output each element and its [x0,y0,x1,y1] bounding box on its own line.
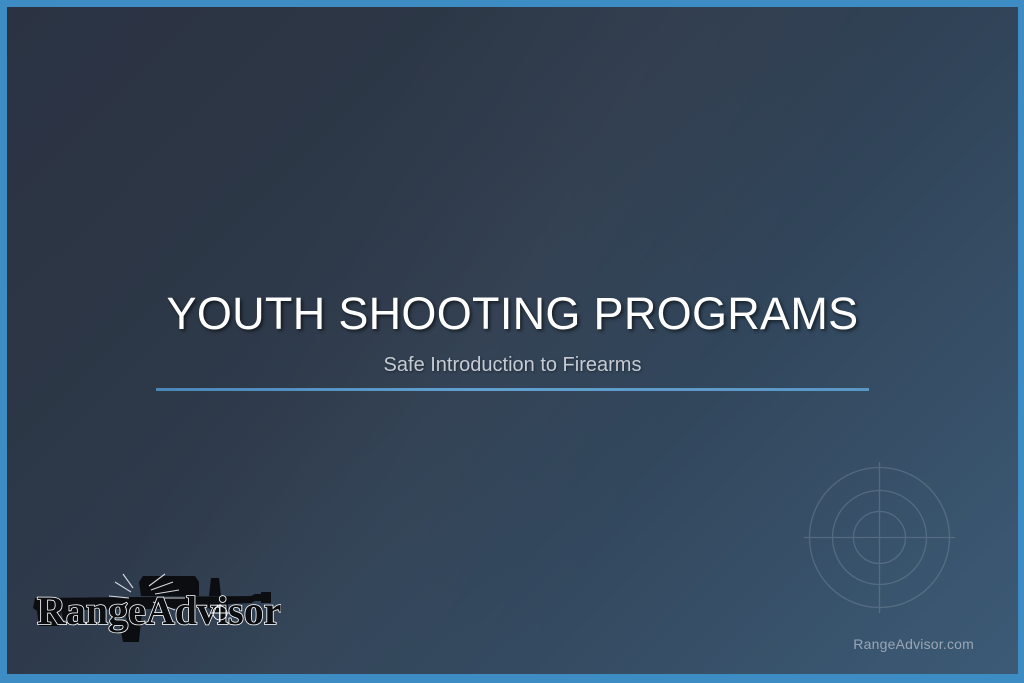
slide-border-bottom [0,674,1024,683]
slide-border-top [0,0,1024,7]
title-block: YOUTH SHOOTING PROGRAMS Safe Introductio… [7,291,1018,375]
title-divider-rule [156,388,869,391]
crosshair-target-icon [802,460,957,615]
presentation-slide: YOUTH SHOOTING PROGRAMS Safe Introductio… [0,0,1024,683]
page-title: YOUTH SHOOTING PROGRAMS [7,291,1018,336]
brand-logo: RangeAdvisor [23,568,281,652]
brand-logo-wordmark: RangeAdvisor [37,588,281,633]
slide-border-right [1018,0,1024,683]
slide-canvas: YOUTH SHOOTING PROGRAMS Safe Introductio… [7,7,1018,674]
slide-border-left [0,0,7,683]
footer-website-url: RangeAdvisor.com [853,636,974,652]
page-subtitle: Safe Introduction to Firearms [7,355,1018,375]
